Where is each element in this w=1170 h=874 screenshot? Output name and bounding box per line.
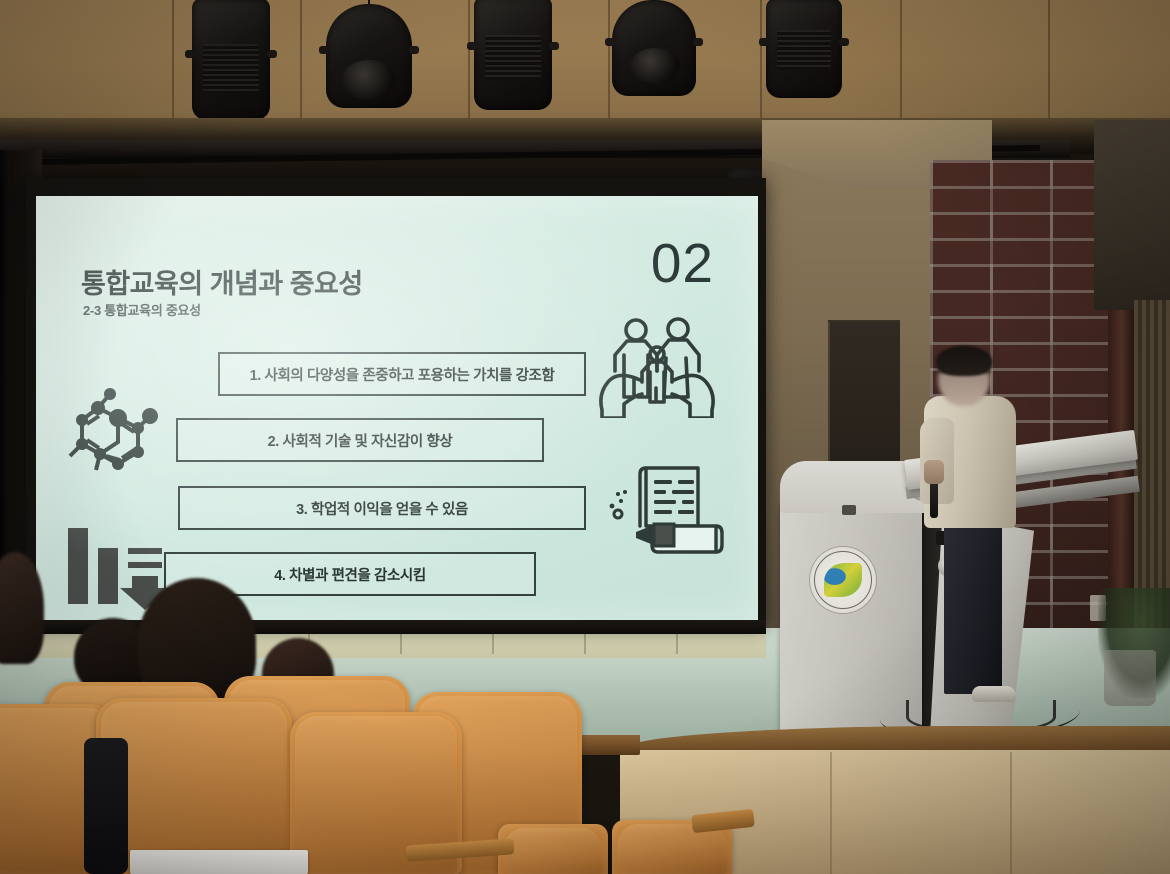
- stage-light: [612, 0, 696, 96]
- slide-item-3: 3. 학업적 이익을 얻을 수 있음: [178, 486, 586, 530]
- auditorium-seat: [498, 824, 608, 874]
- slide-section-number: 02: [651, 236, 714, 291]
- presenter: [918, 348, 1038, 738]
- slide-item-2: 2. 사회적 기술 및 자신감이 향상: [176, 418, 544, 462]
- podium-latch: [842, 505, 856, 515]
- slide-item-1: 1. 사회의 다양성을 존중하고 포용하는 가치를 강조함: [218, 352, 586, 396]
- presenter-legs: [944, 524, 1002, 694]
- university-emblem: [810, 547, 876, 613]
- stage-light: [766, 0, 842, 98]
- upper-right-wall: [1094, 120, 1170, 310]
- stage-light: [326, 4, 412, 108]
- audience-body: [84, 738, 128, 874]
- molecule-icon: [60, 386, 164, 490]
- papers-on-seat: [130, 850, 308, 874]
- stage-light: [474, 0, 552, 110]
- projection-screen: 통합교육의 개념과 중요성 2-3 통합교육의 중요성 02 1. 사회의 다양…: [36, 196, 758, 621]
- document-pencil-icon: [602, 458, 730, 562]
- slide-title: 통합교육의 개념과 중요성: [81, 262, 363, 301]
- presenter-hair: [936, 346, 992, 376]
- lecture-hall-photo: 통합교육의 개념과 중요성 2-3 통합교육의 중요성 02 1. 사회의 다양…: [0, 0, 1170, 874]
- plant-container: [1104, 650, 1156, 706]
- family-in-hands-icon: [596, 314, 718, 418]
- presenter-hand: [924, 460, 944, 484]
- slide-subtitle: 2-3 통합교육의 중요성: [83, 300, 201, 319]
- stage-light: [192, 0, 270, 120]
